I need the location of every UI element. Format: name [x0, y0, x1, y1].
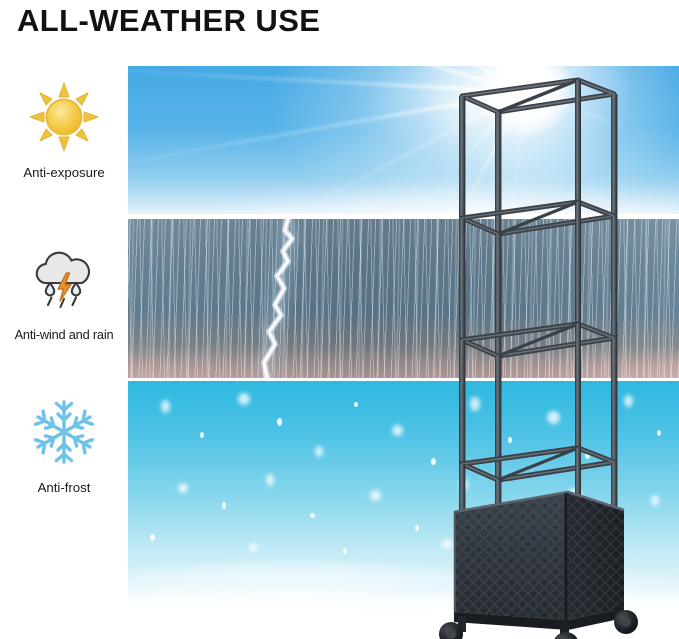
heavy-rain-panel	[128, 219, 679, 378]
feature-label-anti-exposure: Anti-exposure	[23, 164, 104, 181]
cloud-rain-lightning-icon	[27, 242, 101, 316]
feature-item-anti-exposure: Anti-exposure	[0, 80, 128, 181]
feature-list: Anti-exposure An	[0, 62, 128, 622]
cloud-wisp	[172, 180, 679, 214]
feature-item-anti-frost: Anti-frost	[0, 395, 128, 496]
weather-panel-group	[128, 0, 679, 639]
sun-icon	[27, 80, 101, 154]
snow-ground	[128, 587, 679, 613]
snowfall-panel	[128, 381, 679, 613]
sunny-sky-panel	[128, 66, 679, 214]
lightning-bolt-icon	[255, 219, 315, 378]
feature-label-anti-frost: Anti-frost	[38, 479, 91, 496]
feature-label-anti-wind-and-rain: Anti-wind and rain	[15, 326, 114, 343]
feature-item-anti-wind-and-rain: Anti-wind and rain	[0, 242, 128, 343]
rain-streaks-front	[128, 219, 679, 378]
snowflake-icon	[27, 395, 101, 469]
